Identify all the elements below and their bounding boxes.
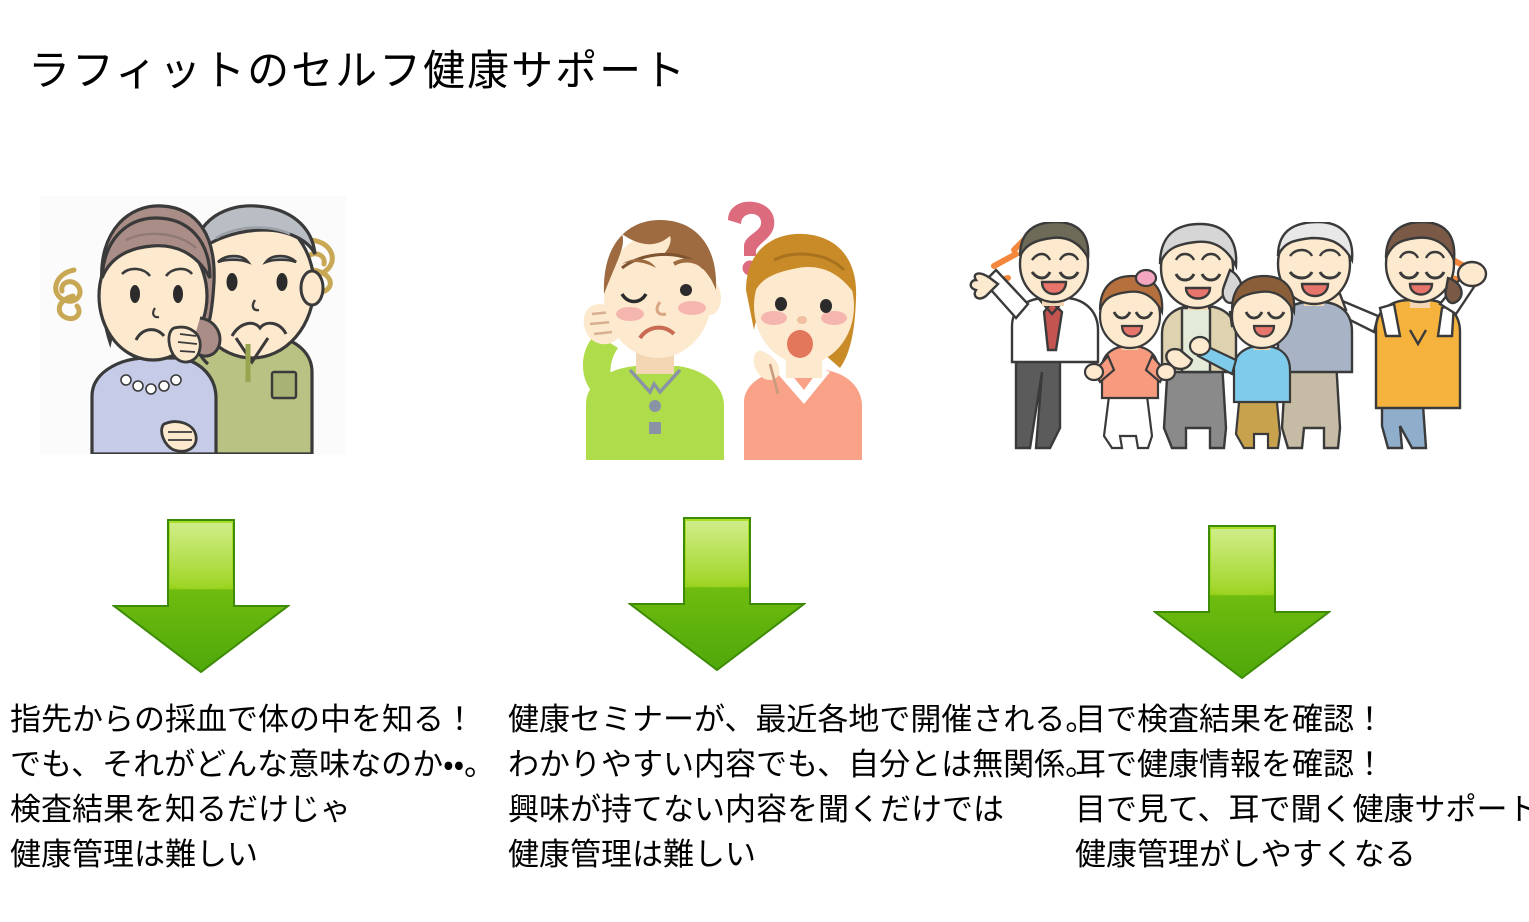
caption-line: 健康管理は難しい [508,832,1096,877]
down-arrow-3 [1153,524,1331,680]
caption-line: 目で見て、耳で聞く健康サポート [1075,787,1529,832]
caption-line: 耳で健康情報を確認！ [1075,742,1529,787]
caption-line: 指先からの採血で体の中を知る！ [10,697,495,742]
caption-line: わかりやすい内容でも、自分とは無関係。 [508,742,1096,787]
caption-line: 興味が持てない内容を聞くだけでは [508,787,1096,832]
caption-line: 健康管理は難しい [10,832,495,877]
grandfather-figure [1278,222,1352,448]
caption-line: 健康セミナーが、最近各地で開催される。 [508,697,1096,742]
caption-block-2: 健康セミナーが、最近各地で開催される。 わかりやすい内容でも、自分とは無関係。 … [508,697,1096,877]
confused-couple-illustration [578,198,892,460]
elderly-woman-figure [92,206,220,454]
young-woman-figure [744,234,862,460]
down-arrow-2 [628,516,806,672]
caption-block-3: 目で検査結果を確認！ 耳で健康情報を確認！ 目で見て、耳で聞く健康サポート 健康… [1075,697,1529,877]
caption-line: 目で検査結果を確認！ [1075,697,1529,742]
caption-line: 検査結果を知るだけじゃ [10,787,495,832]
down-arrow-1 [112,518,290,674]
caption-line: でも、それがどんな意味なのか・・。 [10,742,495,787]
page-title: ラフィットのセルフ健康サポート [28,46,687,98]
caption-block-1: 指先からの採血で体の中を知る！ でも、それがどんな意味なのか・・。 検査結果を知… [10,697,495,877]
happy-family-illustration [968,222,1492,454]
worried-elderly-couple-illustration [40,196,346,454]
caption-line: 健康管理がしやすくなる [1075,832,1529,877]
slide-canvas: ラフィットのセルフ健康サポート [0,0,1529,922]
young-man-figure [583,220,724,460]
father-figure [971,222,1098,448]
